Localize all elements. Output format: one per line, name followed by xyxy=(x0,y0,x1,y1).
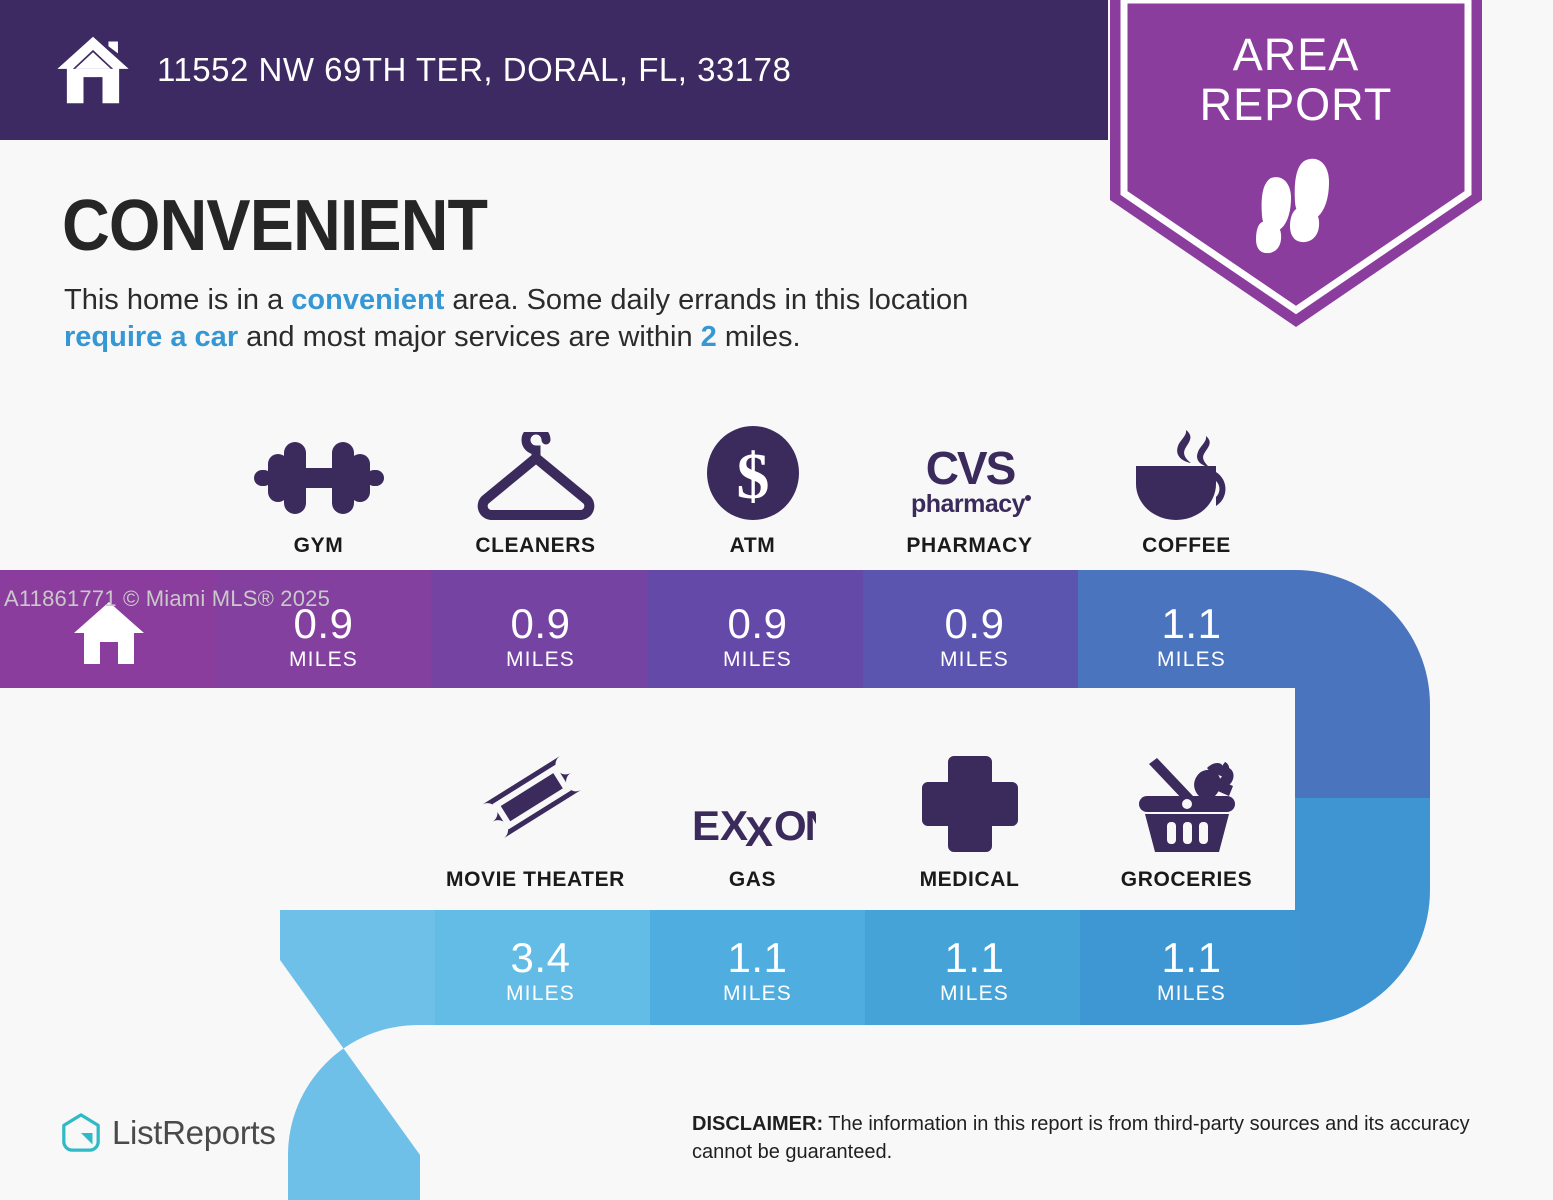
distance-atm: 0.9 MILES xyxy=(650,602,865,672)
subtext-highlight-2: require a car xyxy=(64,321,238,353)
svg-text:pharmacy: pharmacy xyxy=(910,490,1025,518)
distance-unit: MILES xyxy=(433,648,648,672)
amenity-label: COFFEE xyxy=(1079,534,1294,558)
headline: CONVENIENT xyxy=(62,186,487,266)
amenity-label: ATM xyxy=(645,534,860,558)
amenity-atm: $ ATM xyxy=(645,424,860,558)
svg-text:X: X xyxy=(745,808,773,854)
disclaimer-label: DISCLAIMER: xyxy=(692,1113,823,1135)
distance-unit: MILES xyxy=(216,648,431,672)
distance-value: 0.9 xyxy=(867,602,1082,646)
atm-dollar-icon: $ xyxy=(645,424,860,520)
subtext: This home is in a convenient area. Some … xyxy=(64,282,1074,356)
distance-gas: 1.1 MILES xyxy=(650,936,865,1006)
amenity-cleaners: CLEANERS xyxy=(428,424,643,558)
distance-groceries: 1.1 MILES xyxy=(1084,936,1299,1006)
amenity-label: GROCERIES xyxy=(1079,868,1294,892)
svg-text:ON: ON xyxy=(774,802,816,849)
distance-value: 3.4 xyxy=(433,936,648,980)
distance-coffee: 1.1 MILES xyxy=(1084,602,1299,672)
dumbbell-icon xyxy=(211,424,426,520)
distance-pharmacy: 0.9 MILES xyxy=(867,602,1082,672)
brand-name: ListReports xyxy=(112,1114,276,1152)
header-bar: 11552 NW 69TH TER, DORAL, FL, 33178 xyxy=(0,0,1108,140)
grocery-basket-icon xyxy=(1079,758,1294,854)
area-report-badge: AREA REPORT xyxy=(1110,0,1482,330)
subtext-part-4: miles. xyxy=(717,321,801,353)
amenity-pharmacy: CVS pharmacy PHARMACY xyxy=(862,424,1077,558)
distance-unit: MILES xyxy=(867,648,1082,672)
exxon-logo: E X X ON xyxy=(645,758,860,854)
distance-value: 1.1 xyxy=(1084,602,1299,646)
distance-value: 0.9 xyxy=(650,602,865,646)
distance-unit: MILES xyxy=(1084,982,1299,1006)
distance-unit: MILES xyxy=(867,982,1082,1006)
page-title: 11552 NW 69TH TER, DORAL, FL, 33178 xyxy=(157,51,791,89)
home-icon xyxy=(55,34,131,106)
area-report-page: 11552 NW 69TH TER, DORAL, FL, 33178 AREA… xyxy=(0,0,1553,1200)
distance-cleaners: 0.9 MILES xyxy=(433,602,648,672)
amenity-medical: MEDICAL xyxy=(862,758,1077,892)
listreports-house-tag-icon xyxy=(60,1112,102,1154)
ticket-icon xyxy=(428,758,643,854)
distance-medical: 1.1 MILES xyxy=(867,936,1082,1006)
svg-text:X: X xyxy=(720,802,748,849)
cvs-pharmacy-logo: CVS pharmacy xyxy=(862,424,1077,520)
svg-text:$: $ xyxy=(736,440,769,513)
medical-cross-icon xyxy=(862,758,1077,854)
amenity-label: MEDICAL xyxy=(862,868,1077,892)
ribbon-left-turn xyxy=(280,1010,425,1200)
distance-unit: MILES xyxy=(650,648,865,672)
distance-value: 0.9 xyxy=(433,602,648,646)
distance-value: 1.1 xyxy=(1084,936,1299,980)
ribbon-inner-notch xyxy=(1280,686,1460,916)
coffee-cup-icon xyxy=(1079,424,1294,520)
distance-unit: MILES xyxy=(433,982,648,1006)
disclaimer: DISCLAIMER: The information in this repo… xyxy=(692,1110,1492,1166)
subtext-part-1: This home is in a xyxy=(64,284,291,316)
distance-unit: MILES xyxy=(1084,648,1299,672)
amenity-label: CLEANERS xyxy=(428,534,643,558)
distance-gym: 0.9 MILES xyxy=(216,602,431,672)
distance-unit: MILES xyxy=(650,982,865,1006)
hanger-icon xyxy=(428,424,643,520)
amenity-label: GAS xyxy=(645,868,860,892)
amenity-label: GYM xyxy=(211,534,426,558)
amenity-groceries: GROCERIES xyxy=(1079,758,1294,892)
amenity-gas: E X X ON GAS xyxy=(645,758,860,892)
distance-movie-theater: 3.4 MILES xyxy=(433,936,648,1006)
amenity-label: MOVIE THEATER xyxy=(428,868,643,892)
subtext-part-2: area. Some daily errands in this locatio… xyxy=(444,284,968,316)
mls-watermark: A11861771 © Miami MLS® 2025 xyxy=(4,586,330,612)
svg-text:E: E xyxy=(692,802,719,849)
amenity-coffee: COFFEE xyxy=(1079,424,1294,558)
amenity-gym: GYM xyxy=(211,424,426,558)
amenity-movie-theater: MOVIE THEATER xyxy=(428,758,643,892)
amenity-label: PHARMACY xyxy=(862,534,1077,558)
badge-shape xyxy=(1110,0,1482,330)
distance-value: 1.1 xyxy=(650,936,865,980)
subtext-part-3: and most major services are within xyxy=(238,321,701,353)
subtext-highlight-3: 2 xyxy=(701,321,717,353)
subtext-highlight-1: convenient xyxy=(291,284,444,316)
listreports-brand: ListReports xyxy=(60,1112,276,1154)
distance-value: 1.1 xyxy=(867,936,1082,980)
svg-text:CVS: CVS xyxy=(925,442,1014,494)
